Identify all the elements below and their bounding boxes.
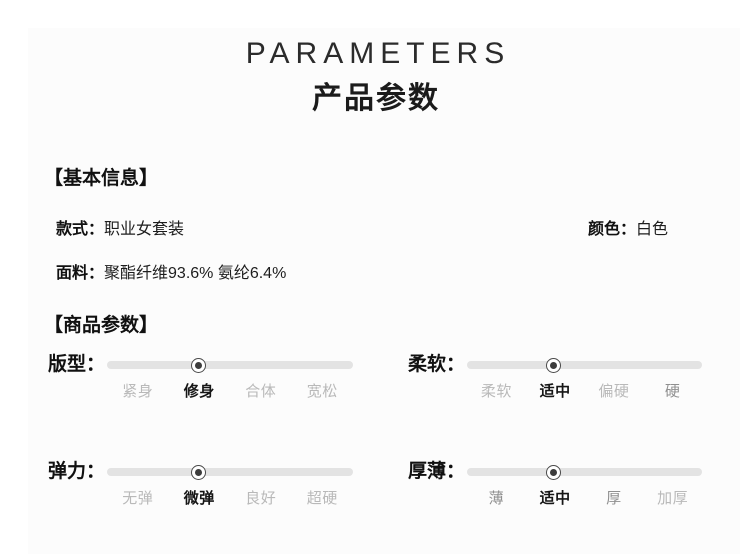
slider-thumb-elasticity[interactable] [191, 465, 206, 480]
slider-thumb-fit[interactable] [191, 358, 206, 373]
slider-option-elasticity-0[interactable]: 无弹 [107, 487, 169, 508]
slider-option-elasticity-1[interactable]: 微弹 [169, 487, 231, 508]
slider-body-elasticity: 无弹 微弹 良好 超硬 [107, 459, 353, 508]
product-params-heading: 【商品参数】 [44, 310, 158, 337]
color-value: 白色 [636, 215, 668, 239]
page-title-english: PARAMETERS [0, 36, 750, 72]
style-value: 职业女套装 [104, 215, 184, 239]
parameter-slider-grid: 版型： 紧身 修身 合体 宽松 柔软： [0, 352, 750, 508]
slider-options-elasticity: 无弹 微弹 良好 超硬 [107, 487, 353, 508]
product-params-heading-wrap: 【商品参数】 [44, 310, 158, 337]
slider-label-elasticity: 弹力： [48, 459, 105, 485]
slider-track-elasticity[interactable] [107, 468, 353, 476]
parameter-slider-softness[interactable]: 柔软： 柔软 适中 偏硬 硬 [375, 352, 750, 401]
info-fabric-group: 面料： 聚酯纤维93.6% 氨纶6.4% [56, 259, 286, 283]
slider-options-softness: 柔软 适中 偏硬 硬 [467, 380, 702, 401]
slider-body-thickness: 薄 适中 厚 加厚 [467, 459, 702, 508]
slider-option-thickness-0[interactable]: 薄 [467, 487, 526, 508]
slider-option-fit-3[interactable]: 宽松 [292, 380, 354, 401]
slider-option-softness-2[interactable]: 偏硬 [585, 380, 644, 401]
info-style-group: 款式： 职业女套装 [56, 215, 184, 239]
parameter-slider-thickness[interactable]: 厚薄： 薄 适中 厚 加厚 [375, 459, 750, 508]
info-color-group: 颜色： 白色 [588, 215, 694, 239]
slider-body-fit: 紧身 修身 合体 宽松 [107, 352, 353, 401]
style-label: 款式： [56, 215, 104, 239]
slider-option-elasticity-2[interactable]: 良好 [230, 487, 292, 508]
product-parameters-page: PARAMETERS 产品参数 【基本信息】 款式： 职业女套装 颜色： 白色 … [0, 0, 750, 554]
slider-option-thickness-3[interactable]: 加厚 [643, 487, 702, 508]
slider-label-thickness: 厚薄： [408, 459, 465, 485]
slider-label-fit: 版型： [48, 352, 105, 378]
slider-thumb-thickness[interactable] [546, 465, 561, 480]
slider-track-softness[interactable] [467, 361, 702, 369]
slider-option-elasticity-3[interactable]: 超硬 [292, 487, 354, 508]
fabric-label: 面料： [56, 259, 104, 283]
slider-option-fit-2[interactable]: 合体 [230, 380, 292, 401]
slider-option-thickness-1[interactable]: 适中 [526, 487, 585, 508]
slider-option-fit-0[interactable]: 紧身 [107, 380, 169, 401]
slider-row-1: 版型： 紧身 修身 合体 宽松 柔软： [0, 352, 750, 401]
slider-thumb-softness[interactable] [546, 358, 561, 373]
parameter-slider-fit[interactable]: 版型： 紧身 修身 合体 宽松 [0, 352, 375, 401]
slider-option-softness-1[interactable]: 适中 [526, 380, 585, 401]
parameter-slider-elasticity[interactable]: 弹力： 无弹 微弹 良好 超硬 [0, 459, 375, 508]
slider-body-softness: 柔软 适中 偏硬 硬 [467, 352, 702, 401]
fabric-value: 聚酯纤维93.6% 氨纶6.4% [104, 259, 286, 283]
slider-option-fit-1[interactable]: 修身 [169, 380, 231, 401]
slider-options-thickness: 薄 适中 厚 加厚 [467, 487, 702, 508]
color-label: 颜色： [588, 215, 636, 239]
page-header: PARAMETERS 产品参数 [0, 0, 750, 118]
basic-info-heading-wrap: 【基本信息】 [44, 163, 158, 190]
slider-row-2: 弹力： 无弹 微弹 良好 超硬 厚薄： [0, 459, 750, 508]
slider-options-fit: 紧身 修身 合体 宽松 [107, 380, 353, 401]
slider-option-thickness-2[interactable]: 厚 [585, 487, 644, 508]
page-title-chinese: 产品参数 [0, 80, 750, 118]
basic-info-heading: 【基本信息】 [44, 163, 158, 190]
slider-label-softness: 柔软： [408, 352, 465, 378]
slider-track-fit[interactable] [107, 361, 353, 369]
info-row-style: 款式： 职业女套装 颜色： 白色 [56, 215, 694, 239]
slider-option-softness-3[interactable]: 硬 [643, 380, 702, 401]
info-row-fabric: 面料： 聚酯纤维93.6% 氨纶6.4% [56, 259, 694, 283]
slider-option-softness-0[interactable]: 柔软 [467, 380, 526, 401]
slider-track-thickness[interactable] [467, 468, 702, 476]
